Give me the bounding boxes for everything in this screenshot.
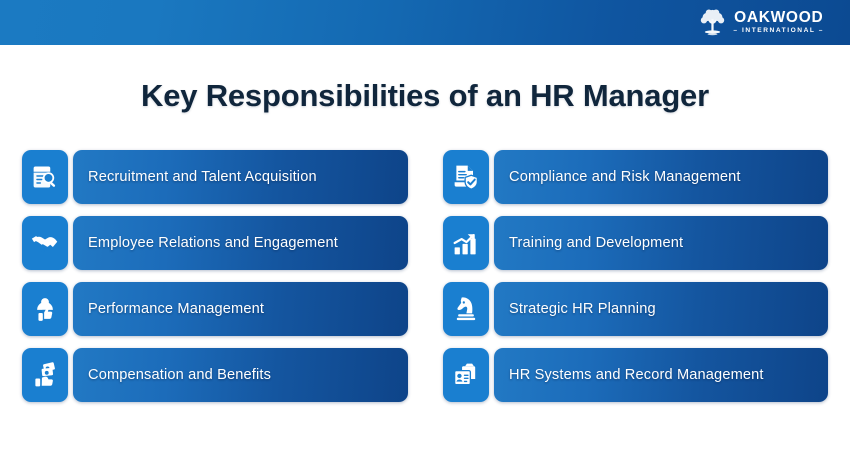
label-container: HR Systems and Record Management [494,348,828,402]
icon-container [22,348,68,402]
hand-money-icon [31,361,59,389]
list-item[interactable]: Employee Relations and Engagement [22,216,408,270]
label-container: Training and Development [494,216,828,270]
list-item[interactable]: Compliance and Risk Management [443,150,828,204]
list-item-label: Employee Relations and Engagement [88,234,338,253]
list-item[interactable]: Recruitment and Talent Acquisition [22,150,408,204]
document-search-icon [31,163,59,191]
page-title: Key Responsibilities of an HR Manager [0,78,850,114]
document-shield-check-icon [452,163,480,191]
list-item-label: Performance Management [88,300,264,319]
list-item[interactable]: HR Systems and Record Management [443,348,828,402]
list-item[interactable]: Strategic HR Planning [443,282,828,336]
icon-container [22,216,68,270]
bar-chart-growth-icon [452,229,480,257]
label-container: Compliance and Risk Management [494,150,828,204]
list-item[interactable]: Compensation and Benefits [22,348,408,402]
person-thumbs-up-icon [31,295,59,323]
label-container: Recruitment and Talent Acquisition [73,150,408,204]
brand-text-block: OAKWOOD – INTERNATIONAL – [733,10,824,35]
label-container: Employee Relations and Engagement [73,216,408,270]
id-card-folder-icon [452,361,480,389]
oak-tree-icon [699,8,726,37]
label-container: Strategic HR Planning [494,282,828,336]
list-item-label: Compensation and Benefits [88,366,271,385]
icon-container [443,282,489,336]
icon-container [443,348,489,402]
icon-container [22,150,68,204]
list-item-label: HR Systems and Record Management [509,366,764,385]
label-container: Compensation and Benefits [73,348,408,402]
responsibilities-grid: Recruitment and Talent Acquisition Emplo… [0,150,850,402]
list-item[interactable]: Training and Development [443,216,828,270]
label-container: Performance Management [73,282,408,336]
icon-container [443,216,489,270]
list-item-label: Compliance and Risk Management [509,168,741,187]
list-item-label: Training and Development [509,234,683,253]
icon-container [22,282,68,336]
brand-name: OAKWOOD [734,10,823,26]
list-item-label: Recruitment and Talent Acquisition [88,168,317,187]
icon-container [443,150,489,204]
header-band: OAKWOOD – INTERNATIONAL – [0,0,850,45]
chess-knight-icon [452,295,480,323]
left-column: Recruitment and Talent Acquisition Emplo… [22,150,408,402]
brand-logo: OAKWOOD – INTERNATIONAL – [699,8,824,37]
handshake-icon [31,229,59,257]
right-column: Compliance and Risk Management Training … [443,150,828,402]
brand-subtitle: – INTERNATIONAL – [733,28,824,35]
list-item-label: Strategic HR Planning [509,300,656,319]
list-item[interactable]: Performance Management [22,282,408,336]
